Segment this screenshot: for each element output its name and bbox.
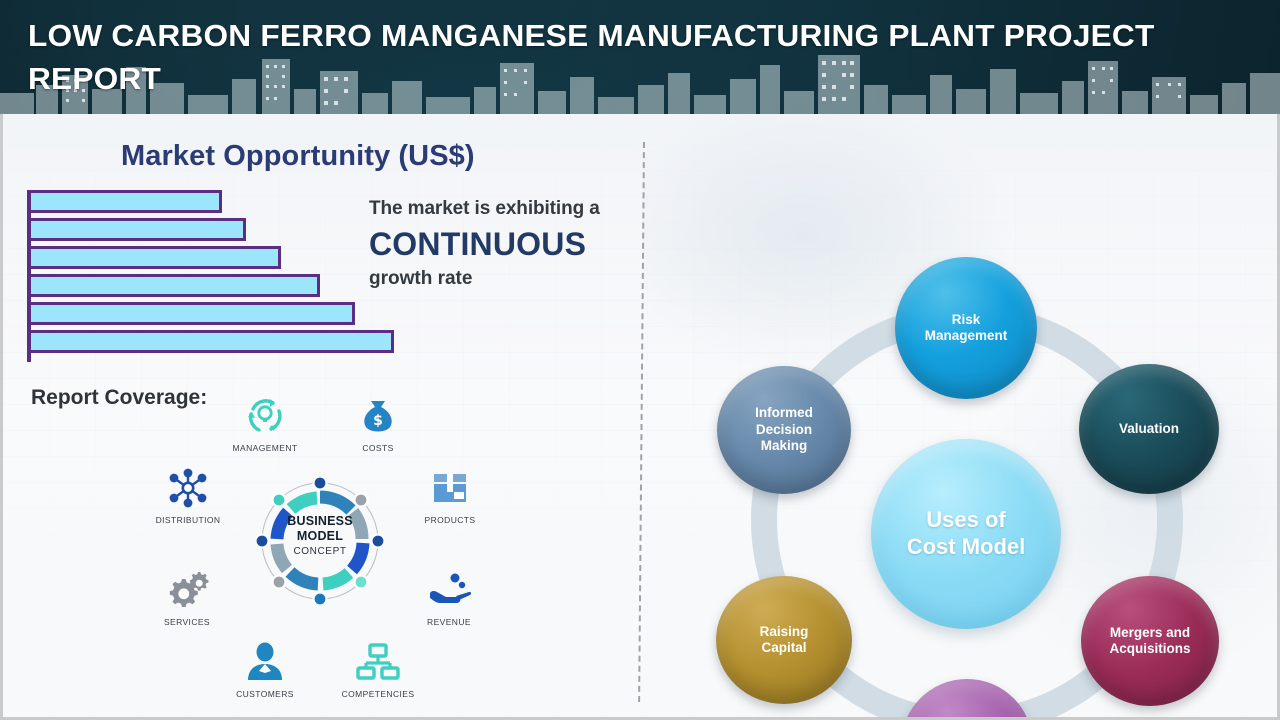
bubble-line2: Management xyxy=(925,328,1008,343)
money-bag-icon: $ xyxy=(328,392,428,440)
coverage-item-distribution[interactable]: DISTRIBUTION xyxy=(138,464,238,525)
bubble-risk-management[interactable]: Risk Management xyxy=(895,257,1037,399)
network-nodes-icon xyxy=(138,464,238,512)
market-statement: The market is exhibiting a CONTINUOUS gr… xyxy=(369,196,644,292)
coverage-item-services[interactable]: SERVICES xyxy=(137,566,237,627)
bubble-line1: Mergers and xyxy=(1110,625,1190,640)
report-coverage-label: Report Coverage: xyxy=(31,386,207,410)
page-title: LOW CARBON FERRO MANGANESE MANUFACTURING… xyxy=(28,14,1280,100)
market-statement-emphasis: CONTINUOUS xyxy=(369,222,644,266)
bubble-informed-decision-making[interactable]: Informed Decision Making xyxy=(717,366,851,494)
coverage-item-label: PRODUCTS xyxy=(400,515,500,525)
recycle-bulb-icon xyxy=(215,392,315,440)
coverage-item-label: REVENUE xyxy=(399,617,499,627)
chart-bar xyxy=(31,330,394,353)
person-icon xyxy=(215,638,315,686)
bubble-line1: Raising xyxy=(760,624,809,639)
chart-bar xyxy=(31,246,281,269)
market-opportunity-bar-chart xyxy=(27,190,427,358)
bubble-line1: Risk xyxy=(952,312,981,327)
coverage-item-products[interactable]: PRODUCTS xyxy=(400,464,500,525)
bubble-line2: Acquisitions xyxy=(1109,641,1190,656)
market-opportunity-title: Market Opportunity (US$) xyxy=(121,140,475,173)
coverage-item-costs[interactable]: $ COSTS xyxy=(328,392,428,453)
bubble-line3: Making xyxy=(761,438,808,453)
bubble-mergers-and-acquisitions[interactable]: Mergers and Acquisitions xyxy=(1081,576,1219,706)
center-line2: Cost Model xyxy=(907,534,1026,559)
gears-icon xyxy=(137,566,237,614)
bubble-line1: Valuation xyxy=(1119,421,1179,436)
coverage-item-label: CUSTOMERS xyxy=(215,689,315,699)
chart-bar xyxy=(31,274,320,297)
chart-bar xyxy=(31,190,222,213)
bubble-line1: Informed xyxy=(755,405,813,420)
hand-coins-icon xyxy=(399,566,499,614)
slide-body: Market Opportunity (US$) The market is e… xyxy=(0,114,1280,720)
coverage-item-label: DISTRIBUTION xyxy=(138,515,238,525)
page-header: LOW CARBON FERRO MANGANESE MANUFACTURING… xyxy=(0,0,1280,117)
bubble-raising-capital[interactable]: Raising Capital xyxy=(716,576,852,704)
bubble-uses-of-cost-model[interactable]: Uses of Cost Model xyxy=(871,439,1061,629)
coverage-item-label: COMPETENCIES xyxy=(328,689,428,699)
coverage-item-revenue[interactable]: REVENUE xyxy=(399,566,499,627)
coverage-item-label: COSTS xyxy=(328,443,428,453)
svg-text:$: $ xyxy=(373,413,383,429)
chart-bar xyxy=(31,302,355,325)
bubble-line2: Decision xyxy=(756,422,812,437)
market-statement-line3: growth rate xyxy=(369,266,644,292)
package-box-icon xyxy=(400,464,500,512)
coverage-item-label: MANAGEMENT xyxy=(215,443,315,453)
coverage-item-management[interactable]: MANAGEMENT xyxy=(215,392,315,453)
coverage-item-competencies[interactable]: COMPETENCIES xyxy=(328,638,428,699)
center-line1: Uses of xyxy=(926,507,1005,532)
chart-bar xyxy=(31,218,246,241)
business-model-donut xyxy=(256,477,384,605)
market-statement-line1: The market is exhibiting a xyxy=(369,196,644,222)
org-chart-icon xyxy=(328,638,428,686)
coverage-item-label: SERVICES xyxy=(137,617,237,627)
bubble-valuation[interactable]: Valuation xyxy=(1079,364,1219,494)
bubble-line2: Capital xyxy=(761,640,806,655)
coverage-item-customers[interactable]: CUSTOMERS xyxy=(215,638,315,699)
